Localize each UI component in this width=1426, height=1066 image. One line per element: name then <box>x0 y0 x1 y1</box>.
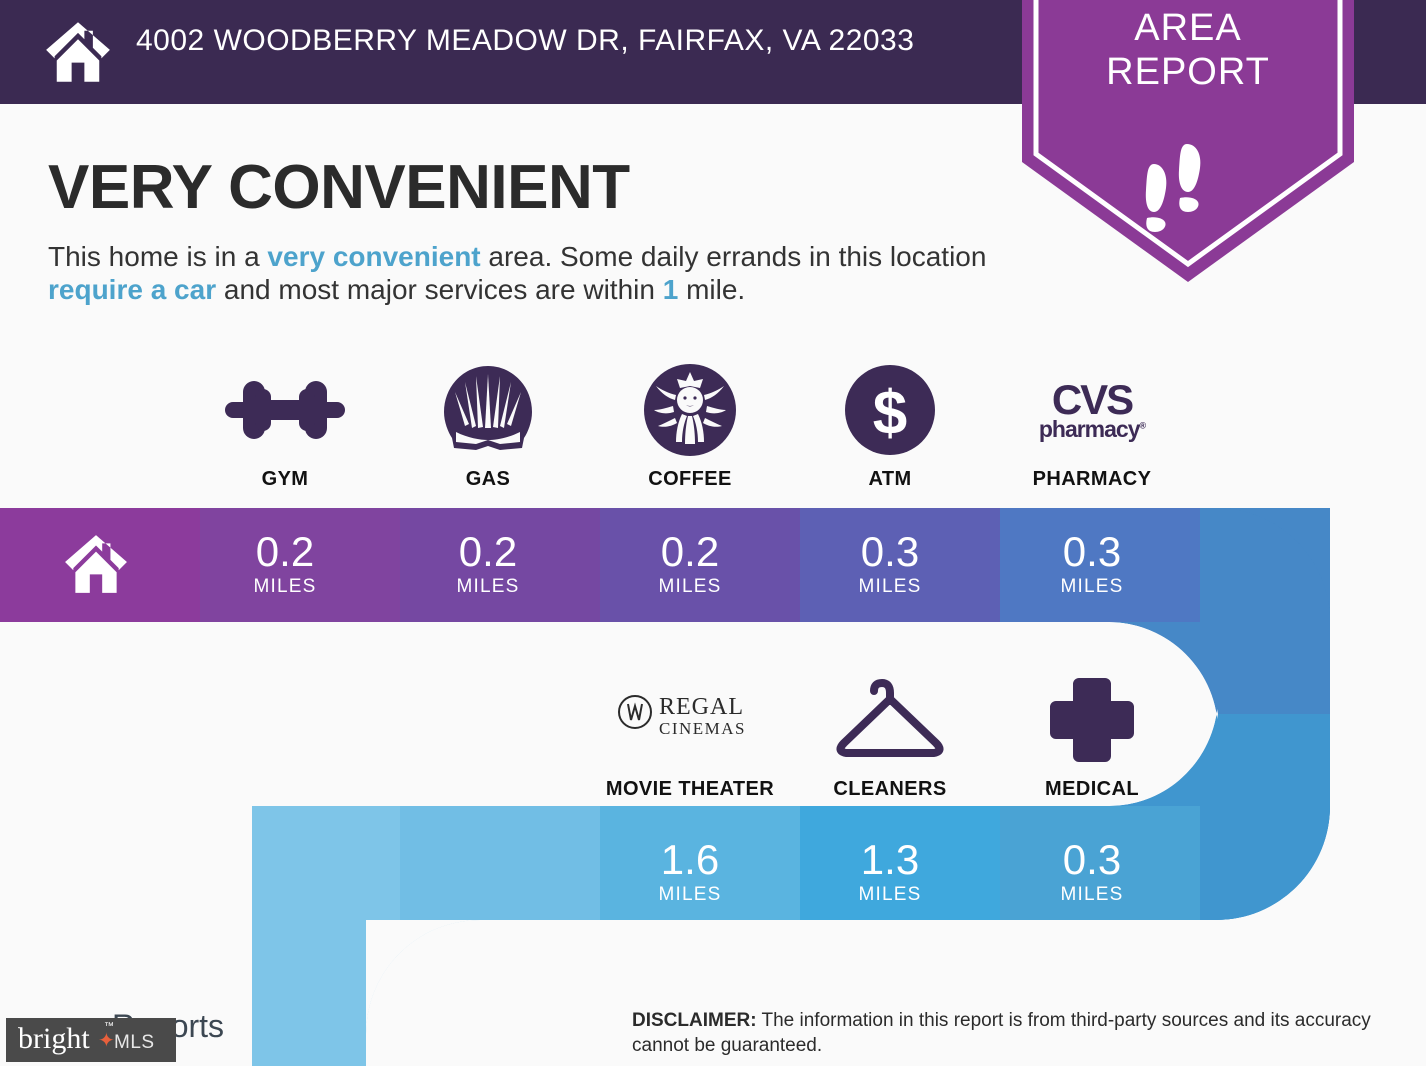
amenity-coffee: COFFEE <box>590 362 790 491</box>
cvs-wordmark: CVS <box>1039 379 1145 421</box>
regal-cinemas-logo-icon: REGAL CINEMAS <box>590 672 790 768</box>
property-address: 4002 WOODBERRY MEADOW DR, FAIRFAX, VA 22… <box>136 24 914 58</box>
row1-bar <box>0 508 1330 622</box>
amenity-label: CLEANERS <box>790 778 990 801</box>
amenity-label: GAS <box>388 468 588 491</box>
summary-text-1: This home is in a <box>48 241 267 272</box>
disclaimer-label: DISCLAIMER: <box>632 1010 757 1031</box>
svg-text:$: $ <box>873 379 907 448</box>
summary-description: This home is in a very convenient area. … <box>48 240 1008 306</box>
amenity-gas: GAS <box>388 362 588 491</box>
amenity-medical: MEDICAL <box>992 672 1192 801</box>
medical-cross-icon <box>992 672 1192 768</box>
svg-text:REGAL: REGAL <box>659 694 744 720</box>
amenity-label: PHARMACY <box>992 468 1192 491</box>
amenity-label: COFFEE <box>590 468 790 491</box>
cvs-logo-icon: CVS pharmacy® <box>992 362 1192 458</box>
amenity-label: GYM <box>185 468 385 491</box>
home-marker-icon <box>63 531 129 597</box>
summary-highlight-1: very convenient <box>267 241 480 272</box>
area-report-badge: AREA REPORT <box>1022 0 1354 282</box>
cvs-registered-mark: ® <box>1140 420 1146 430</box>
summary-highlight-3: 1 <box>663 274 679 305</box>
amenity-label: MEDICAL <box>992 778 1192 801</box>
starbucks-logo-icon <box>590 362 790 458</box>
amenity-pharmacy: CVS pharmacy® PHARMACY <box>992 362 1192 491</box>
amenity-cleaners: CLEANERS <box>790 672 990 801</box>
summary-text-3: and most major services are within <box>216 274 663 305</box>
amenity-atm: $ ATM <box>790 362 990 491</box>
clothes-hanger-icon <box>790 672 990 768</box>
mls-wordmark: MLS <box>114 1032 155 1054</box>
star-icon: ✦ <box>98 1028 115 1053</box>
dumbbell-icon <box>185 362 385 458</box>
summary-highlight-2: require a car <box>48 274 216 305</box>
svg-text:CINEMAS: CINEMAS <box>659 719 746 738</box>
summary-text-2: area. Some daily errands in this locatio… <box>481 241 987 272</box>
cvs-subtext: pharmacy <box>1039 416 1140 442</box>
summary-text-4: mile. <box>678 274 745 305</box>
amenity-gym: GYM <box>185 362 385 491</box>
disclaimer: DISCLAIMER: The information in this repo… <box>632 1008 1372 1058</box>
page-title: VERY CONVENIENT <box>48 152 630 223</box>
house-icon <box>44 18 112 86</box>
shell-logo-icon <box>388 362 588 458</box>
amenity-label: ATM <box>790 468 990 491</box>
dollar-circle-icon: $ <box>790 362 990 458</box>
bright-mls-watermark: bright ™ ✦ MLS <box>6 1018 176 1062</box>
amenity-label: MOVIE THEATER <box>590 778 790 801</box>
bright-wordmark: bright <box>18 1022 90 1056</box>
amenity-movie-theater: REGAL CINEMAS MOVIE THEATER <box>590 672 790 801</box>
